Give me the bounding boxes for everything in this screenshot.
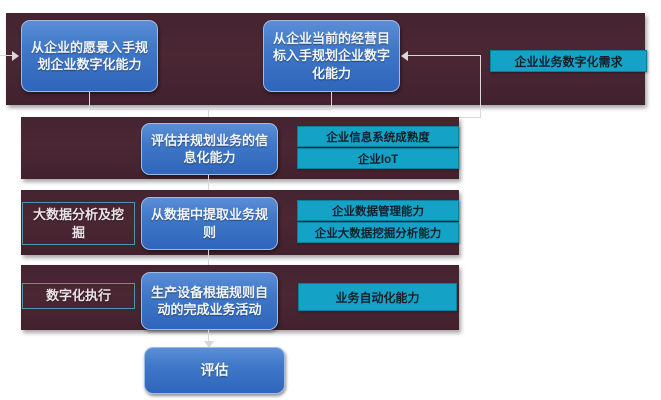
outline-box-bigdata-analysis[interactable]: 大数据分析及挖掘 xyxy=(22,202,135,245)
capability-box-biz-digital-demand[interactable]: 企业业务数字化需求 xyxy=(490,50,647,72)
demand-dropline-vertical xyxy=(480,55,481,118)
process-box-business-goal[interactable]: 从企业当前的经营目标入手规划企业数字化能力 xyxy=(263,20,400,92)
capability-box-info-system-maturity[interactable]: 企业信息系统成熟度 xyxy=(297,126,459,147)
process-box-auto-execute[interactable]: 生产设备根据规则自动的完成业务活动 xyxy=(141,272,278,330)
demand-to-goal-horizontal xyxy=(408,55,481,56)
capability-box-bigdata-mining[interactable]: 企业大数据挖掘分析能力 xyxy=(297,222,459,243)
merge-horizontal-line xyxy=(89,109,332,110)
process-box-assess-informatize[interactable]: 评估并规划业务的信息化能力 xyxy=(141,123,278,175)
capability-box-data-management[interactable]: 企业数据管理能力 xyxy=(297,200,459,221)
diagram-canvas: 从企业的愿景入手规划企业数字化能力 从企业当前的经营目标入手规划企业数字化能力 … xyxy=(0,0,661,400)
capability-box-business-automation[interactable]: 业务自动化能力 xyxy=(298,283,457,311)
demand-dropline-to-band2 xyxy=(459,117,481,118)
process-box-evaluate[interactable]: 评估 xyxy=(144,347,285,394)
process-box-extract-rules[interactable]: 从数据中提取业务规则 xyxy=(141,197,278,250)
inbound-arrow-icon xyxy=(12,51,19,61)
demand-to-goal-arrow-icon xyxy=(401,51,408,61)
process-box-vision-planning[interactable]: 从企业的愿景入手规划企业数字化能力 xyxy=(21,20,158,92)
outline-box-digital-execution[interactable]: 数字化执行 xyxy=(22,283,135,309)
capability-box-enterprise-iot[interactable]: 企业IoT xyxy=(297,148,459,169)
vision-box-downline xyxy=(89,92,90,109)
goal-box-downline xyxy=(331,92,332,109)
